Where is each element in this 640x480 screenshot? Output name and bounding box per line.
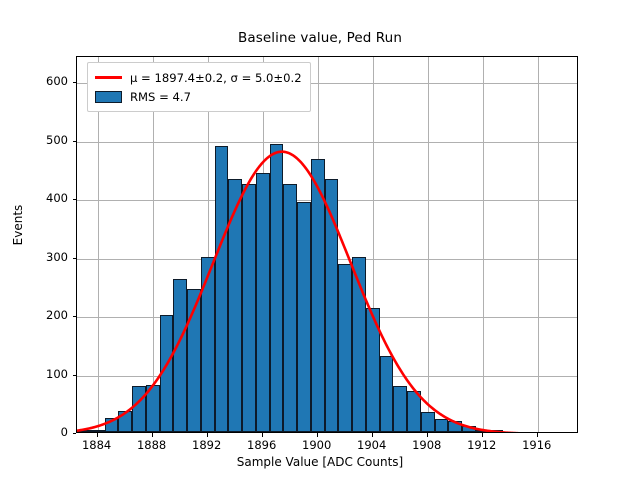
histogram-bar	[311, 159, 325, 432]
figure-canvas: Baseline value, Ped Run 1884188818921896…	[0, 0, 640, 480]
x-tick-label: 1916	[507, 438, 567, 452]
x-tick-label: 1884	[67, 438, 127, 452]
histogram-bar	[283, 184, 297, 432]
y-tick-mark	[73, 141, 77, 142]
chart-title: Baseline value, Ped Run	[0, 30, 640, 46]
histogram-bar	[228, 179, 242, 432]
x-axis-label: Sample Value [ADC Counts]	[0, 455, 640, 469]
histogram-bar	[338, 264, 352, 432]
histogram-bar	[366, 308, 380, 432]
x-tick-mark	[97, 433, 98, 437]
histogram-bar	[91, 430, 105, 432]
histogram-bar	[201, 257, 215, 432]
x-tick-label: 1908	[397, 438, 457, 452]
x-tick-mark	[207, 433, 208, 437]
x-tick-label: 1900	[287, 438, 347, 452]
y-tick-label: 200	[8, 308, 68, 322]
x-tick-label: 1912	[452, 438, 512, 452]
legend: μ = 1897.4±0.2, σ = 5.0±0.2 RMS = 4.7	[87, 62, 311, 112]
histogram-bar	[462, 426, 476, 432]
histogram-bar	[448, 421, 462, 432]
legend-line-swatch	[95, 76, 122, 79]
plot-area	[76, 56, 578, 433]
histogram-bar	[187, 289, 201, 432]
histogram-bar	[146, 385, 160, 432]
histogram-bar	[215, 146, 229, 432]
y-axis-label: Events	[11, 145, 25, 305]
y-tick-mark	[73, 316, 77, 317]
y-tick-mark	[73, 82, 77, 83]
histogram-bar	[256, 173, 270, 432]
histogram-bar	[132, 386, 146, 432]
histogram-bar	[270, 144, 284, 432]
histogram-bar	[476, 430, 490, 432]
legend-label-fit: μ = 1897.4±0.2, σ = 5.0±0.2	[130, 71, 302, 85]
x-tick-mark	[537, 433, 538, 437]
x-tick-label: 1892	[177, 438, 237, 452]
legend-label-histogram: RMS = 4.7	[130, 90, 191, 104]
x-tick-label: 1904	[342, 438, 402, 452]
y-tick-mark	[73, 258, 77, 259]
x-tick-label: 1888	[122, 438, 182, 452]
x-tick-mark	[152, 433, 153, 437]
histogram-bar	[380, 356, 394, 432]
x-tick-mark	[262, 433, 263, 437]
histogram-bar	[242, 184, 256, 432]
histogram-bar	[105, 418, 119, 432]
legend-entry-histogram: RMS = 4.7	[95, 87, 302, 106]
histogram-bar	[160, 315, 174, 432]
y-tick-mark	[73, 375, 77, 376]
histogram-bar	[118, 411, 132, 432]
legend-entry-fit: μ = 1897.4±0.2, σ = 5.0±0.2	[95, 68, 302, 87]
histogram-bar	[421, 412, 435, 432]
histogram-bar	[407, 391, 421, 432]
histogram-bar	[325, 179, 339, 432]
histogram-bar	[297, 202, 311, 432]
y-tick-label: 0	[8, 425, 68, 439]
x-tick-label: 1896	[232, 438, 292, 452]
y-tick-label: 600	[8, 74, 68, 88]
histogram-bar	[435, 419, 449, 432]
histogram-bar	[77, 430, 91, 432]
gridline-horizontal	[77, 142, 577, 143]
y-tick-mark	[73, 433, 77, 434]
histogram-bar	[490, 430, 504, 432]
y-tick-mark	[73, 199, 77, 200]
x-tick-mark	[317, 433, 318, 437]
x-tick-mark	[482, 433, 483, 437]
histogram-bar	[393, 386, 407, 432]
legend-patch-swatch	[95, 91, 122, 103]
x-tick-mark	[372, 433, 373, 437]
x-tick-mark	[427, 433, 428, 437]
histogram-bar	[173, 279, 187, 432]
histogram-bar	[352, 257, 366, 432]
y-tick-label: 100	[8, 367, 68, 381]
